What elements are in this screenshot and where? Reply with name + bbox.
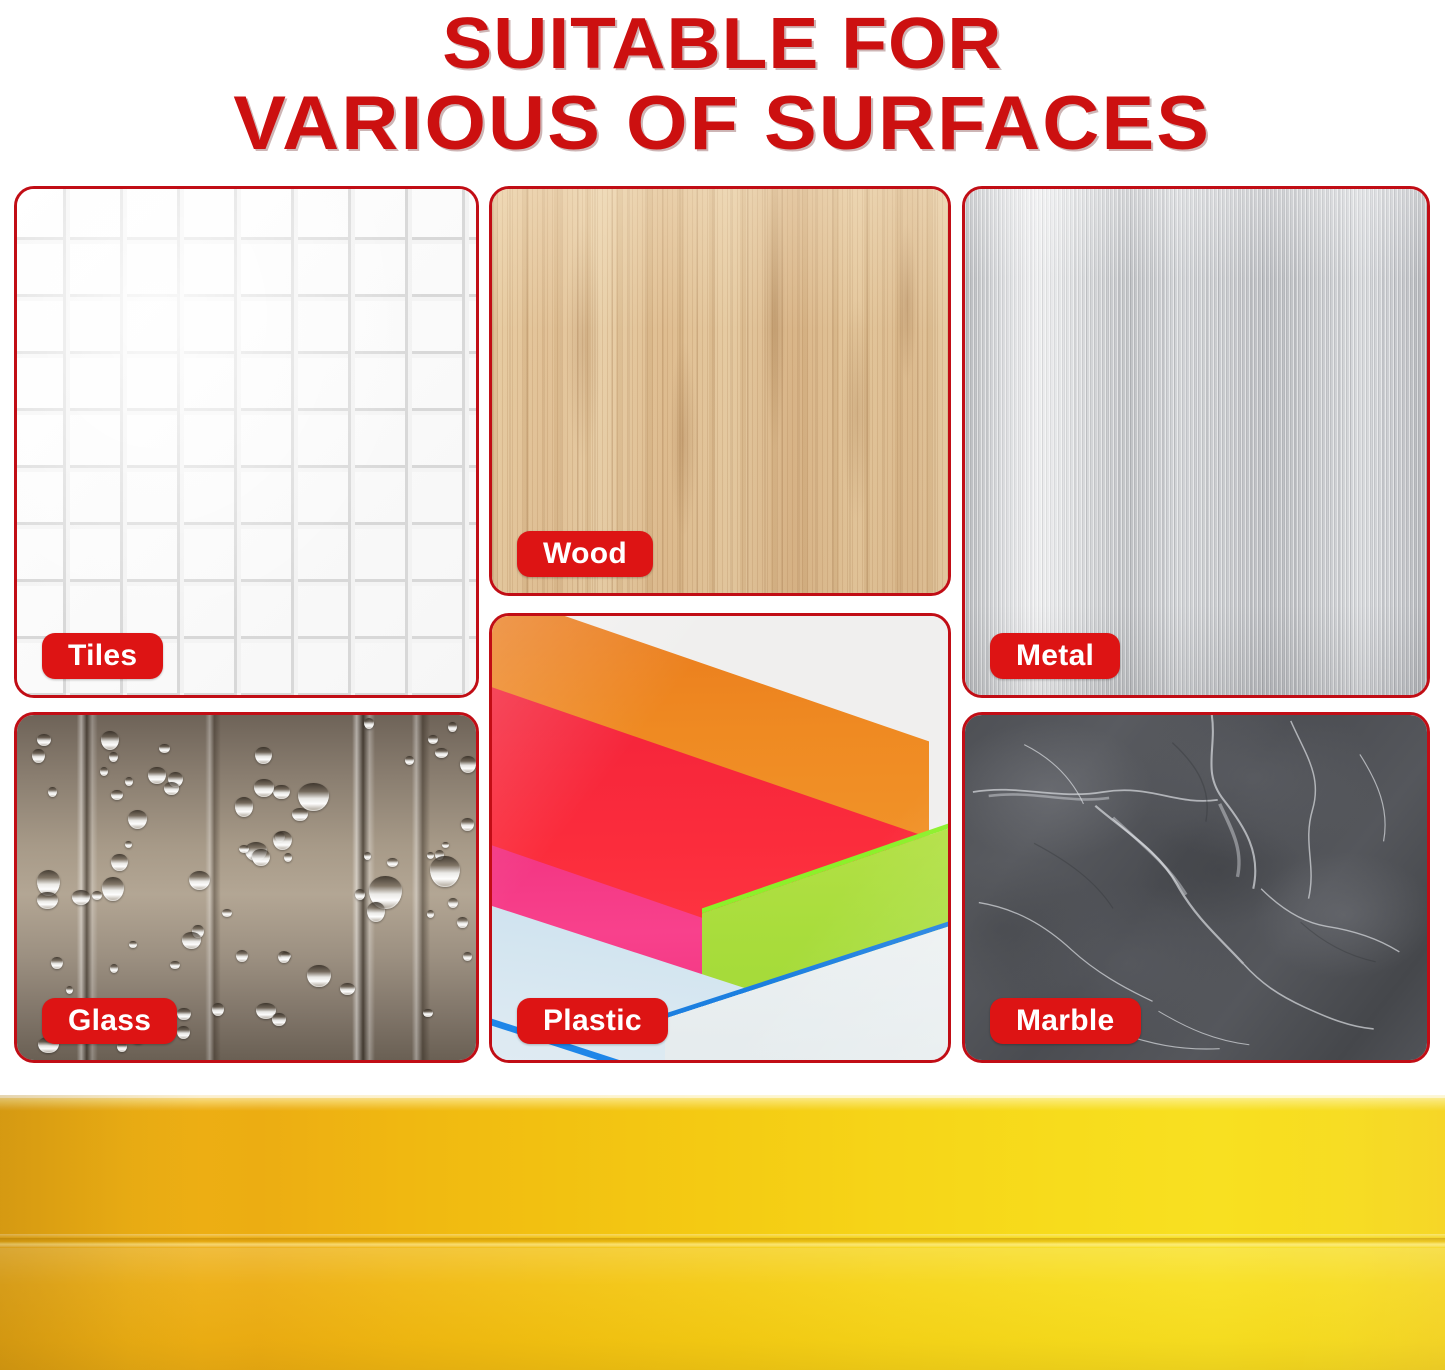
surface-panel-plastic: Plastic (489, 613, 951, 1063)
surface-panel-metal: Metal (962, 186, 1430, 698)
surface-label-metal: Metal (990, 633, 1120, 679)
surface-label-plastic: Plastic (517, 998, 668, 1044)
surface-panel-glass: Glass (14, 712, 479, 1063)
surface-label-text: Marble (1016, 1006, 1115, 1036)
surface-panel-tiles: Tiles (14, 186, 479, 698)
page-title: SUITABLE FOR VARIOUS OF SURFACES (0, 0, 1445, 170)
surface-label-text: Glass (68, 1006, 151, 1036)
headline-line-1: SUITABLE FOR (442, 4, 1002, 84)
product-yellow-band (0, 1095, 1445, 1370)
surface-label-text: Metal (1016, 641, 1094, 671)
surface-label-marble: Marble (990, 998, 1141, 1044)
surface-label-text: Plastic (543, 1006, 642, 1036)
headline-line-2: VARIOUS OF SURFACES (234, 84, 1212, 164)
surface-label-text: Wood (543, 539, 627, 569)
surface-panel-marble: Marble (962, 712, 1430, 1063)
metal-texture (965, 189, 1427, 695)
surface-label-tiles: Tiles (42, 633, 163, 679)
surface-label-text: Tiles (68, 641, 137, 671)
surface-panel-wood: Wood (489, 186, 951, 596)
surface-label-glass: Glass (42, 998, 177, 1044)
plastic-texture (492, 616, 948, 1060)
tiles-texture (17, 189, 476, 695)
band-vertical-shading (0, 1095, 1445, 1370)
surface-label-wood: Wood (517, 531, 653, 577)
